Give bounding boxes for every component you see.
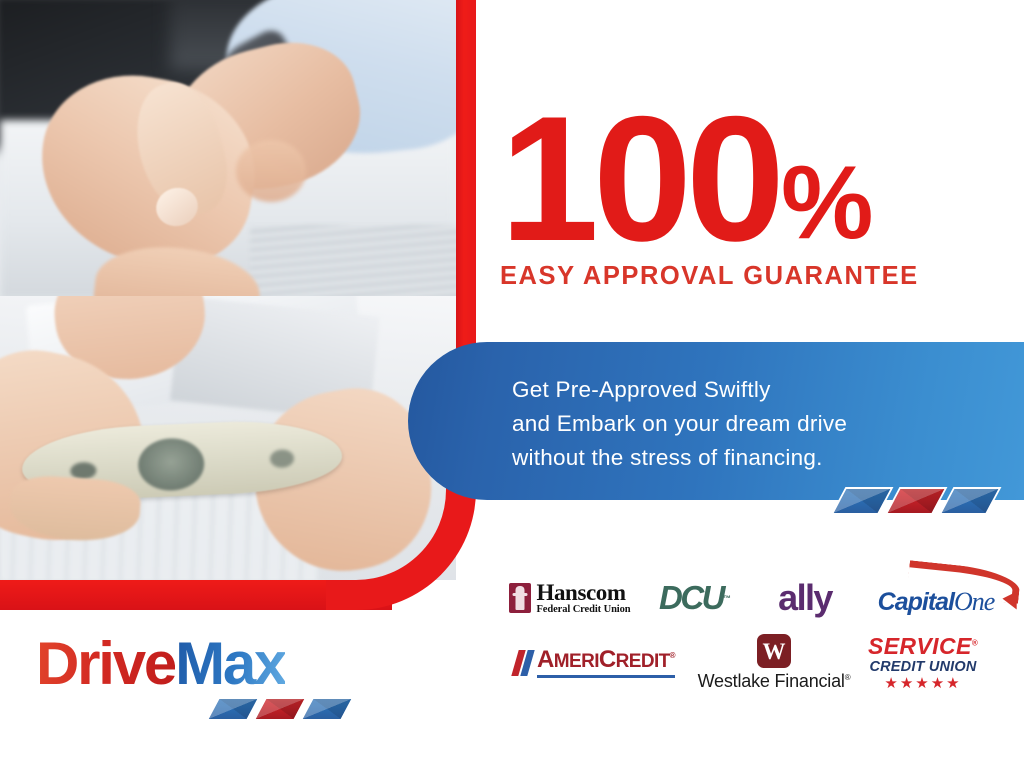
banner-line-3: without the stress of financing. (512, 441, 847, 475)
lender-logo-hanscom: Hanscom Federal Credit Union (500, 581, 640, 616)
chevron-icon (939, 487, 1002, 515)
banner-line-1: Get Pre-Approved Swiftly (512, 373, 847, 407)
advertisement-banner: 100 % EASY APPROVAL GUARANTEE Get Pre-Ap… (0, 0, 1024, 768)
chevron-icon (206, 697, 261, 721)
hanscom-subtitle: Federal Credit Union (536, 605, 630, 616)
banner-chevron-decoration (838, 487, 994, 515)
dcu-trademark-icon: ™ (723, 594, 731, 603)
lender-logo-service-credit-union: SERVICE® CREDIT UNION ★★★★★ (858, 635, 988, 691)
chevron-icon (300, 697, 355, 721)
lender-logos: Hanscom Federal Credit Union DCU™ ally C… (500, 570, 1012, 694)
scu-stars-icon: ★★★★★ (884, 676, 961, 691)
hanscom-name: Hanscom (536, 581, 630, 604)
lender-row-1: Hanscom Federal Credit Union DCU™ ally C… (500, 570, 1012, 626)
chevron-icon (253, 697, 308, 721)
westlake-badge-letter: W (763, 640, 786, 663)
photo-knuckles (236, 140, 306, 202)
westlake-name: Westlake Financial (698, 671, 845, 691)
lender-logo-westlake-financial: W Westlake Financial® (690, 634, 858, 692)
americredit-underline (537, 675, 675, 678)
americredit-c: C (599, 646, 616, 673)
logo-text-drive: Drive (36, 630, 175, 697)
lender-logo-americredit: AMERICREDIT® (500, 648, 690, 678)
americredit-meri: MERI (554, 651, 599, 672)
hanscom-minuteman-icon (509, 583, 531, 613)
lender-logo-capital-one: CapitalOne (860, 579, 1012, 617)
handshake-photo (0, 0, 456, 296)
chevron-icon (831, 487, 894, 515)
lender-logo-ally: ally (750, 577, 860, 619)
bill-seal-right (270, 449, 295, 468)
lender-row-2: AMERICREDIT® W Westlake Financial® SERVI… (500, 632, 1012, 694)
chevron-icon (885, 487, 948, 515)
headline-number: 100 (500, 104, 779, 254)
blue-message-banner: Get Pre-Approved Swiftly and Embark on y… (408, 342, 1024, 500)
banner-text: Get Pre-Approved Swiftly and Embark on y… (512, 373, 847, 475)
headline-percent-symbol: % (781, 160, 873, 247)
headline-subtitle: EASY APPROVAL GUARANTEE (500, 262, 900, 291)
westlake-registered-icon: ® (845, 673, 851, 682)
americredit-slash-icon (515, 650, 533, 676)
headline-block: 100 % EASY APPROVAL GUARANTEE (500, 104, 900, 291)
logo-chevron-decoration (212, 697, 348, 721)
bill-portrait (137, 437, 205, 492)
westlake-badge-icon: W (757, 634, 791, 668)
lender-logo-dcu: DCU™ (640, 579, 750, 617)
scu-line-2: CREDIT UNION (869, 660, 976, 675)
americredit-a: A (537, 646, 554, 673)
americredit-redit: REDIT (616, 651, 670, 672)
dcu-name: DCU (659, 579, 723, 617)
scu-registered-icon: ® (972, 639, 978, 648)
logo-text-max: Max (175, 630, 285, 697)
americredit-registered-icon: ® (670, 651, 675, 660)
drivemax-logo: DriveMax (36, 634, 285, 694)
headline-percent-row: 100 % (500, 104, 900, 254)
ally-name: ally (778, 577, 832, 619)
scu-line-1: SERVICE (868, 633, 972, 659)
photo-desk-texture (250, 225, 456, 296)
banner-line-2: and Embark on your dream drive (512, 407, 847, 441)
